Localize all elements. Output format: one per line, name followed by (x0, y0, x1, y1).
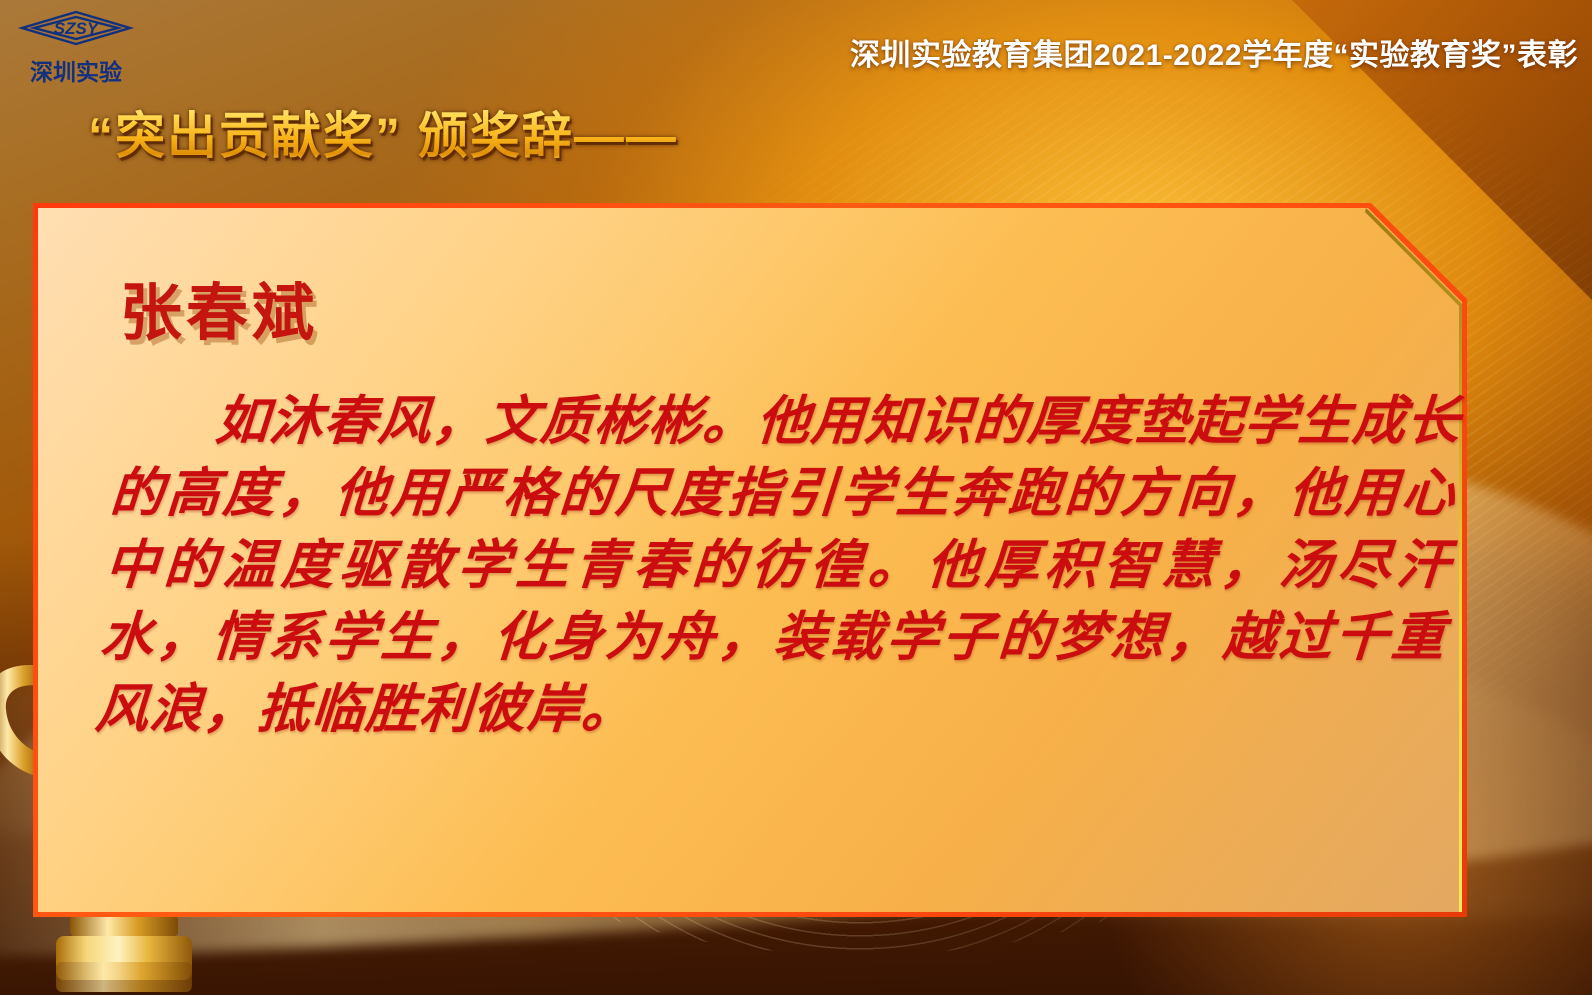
panel-content: 张春斌 如沐春风，文质彬彬。他用知识的厚度垫起学生成长的高度，他用严格的尺度指引… (0, 0, 1592, 995)
award-citation-text: 如沐春风，文质彬彬。他用知识的厚度垫起学生成长的高度，他用严格的尺度指引学生奔跑… (93, 385, 1463, 745)
honoree-name: 张春斌 (120, 262, 318, 352)
presentation-slide: SZSY 深圳实验 深圳实验教育集团2021-2022学年度“实验教育奖”表彰 … (0, 0, 1592, 995)
